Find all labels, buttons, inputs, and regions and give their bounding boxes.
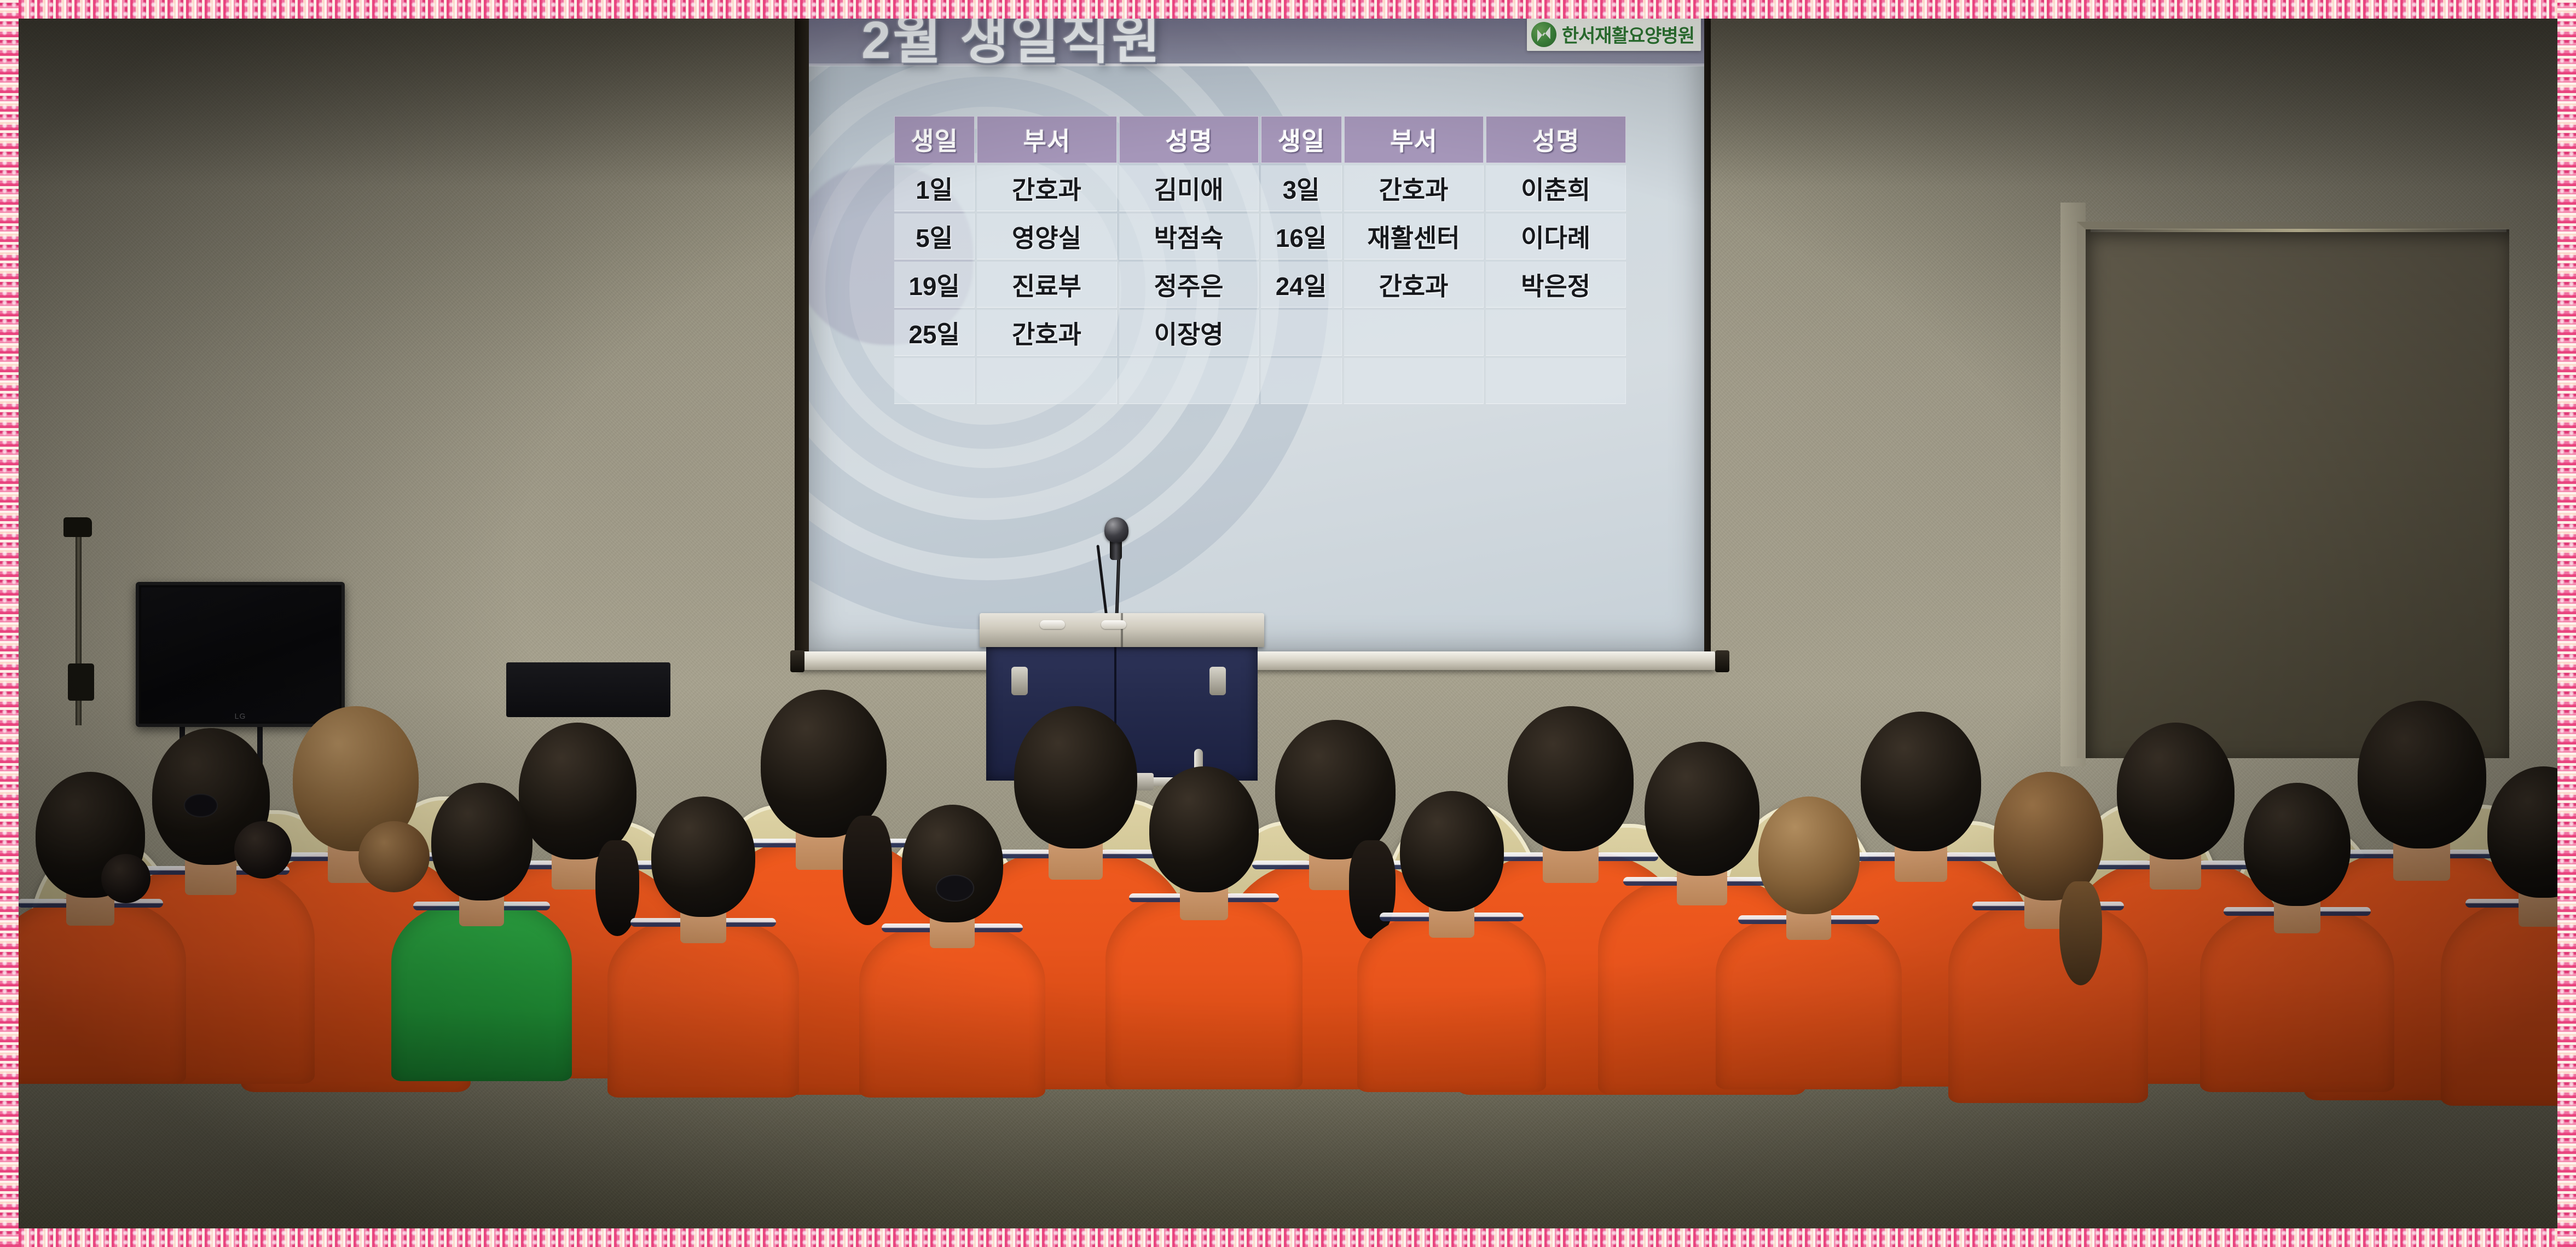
staff-uniform bbox=[391, 900, 572, 1081]
photo-frame: LG 2월 생일직원 한서재활요양병원 bbox=[0, 0, 2576, 1247]
head bbox=[1400, 791, 1504, 911]
doorway-light-gleam bbox=[2091, 229, 2506, 232]
staff-uniform bbox=[607, 917, 799, 1098]
col-header-birthday-2: 생일 bbox=[1261, 116, 1341, 163]
audience-member bbox=[1105, 766, 1303, 1089]
cell-birthday: 16일 bbox=[1261, 213, 1341, 259]
head bbox=[902, 805, 1003, 922]
audience-seating bbox=[11, 657, 2565, 1236]
col-header-dept-2: 부서 bbox=[1344, 116, 1484, 163]
cell-name: 이장영 bbox=[1119, 310, 1259, 356]
audience-member bbox=[1716, 796, 1902, 1089]
head bbox=[651, 796, 755, 917]
cell-birthday: 5일 bbox=[894, 213, 975, 259]
cell-birthday: 19일 bbox=[894, 262, 975, 308]
staff-uniform bbox=[2200, 906, 2394, 1092]
cell-empty bbox=[1261, 358, 1341, 404]
col-header-name-2: 성명 bbox=[1486, 116, 1626, 163]
projection-screen-assembly: 2월 생일직원 한서재활요양병원 생일 부서 성명 bbox=[795, 11, 1725, 700]
head bbox=[1758, 796, 1860, 914]
microphone-icon bbox=[1104, 517, 1128, 542]
cell-dept: 진료부 bbox=[977, 262, 1117, 308]
cell-dept: 간호과 bbox=[1344, 262, 1484, 308]
cell-empty bbox=[1344, 310, 1484, 356]
cell-empty bbox=[1261, 310, 1341, 356]
audience-member bbox=[607, 796, 799, 1098]
cell-birthday: 25일 bbox=[894, 310, 975, 356]
ponytail bbox=[2059, 881, 2102, 985]
staff-uniform bbox=[859, 922, 1045, 1098]
col-header-name-1: 성명 bbox=[1119, 116, 1259, 163]
cell-birthday: 3일 bbox=[1261, 165, 1341, 211]
birthday-staff-table: 생일 부서 성명 생일 부서 성명 1일 간호과 김미애 bbox=[892, 114, 1628, 406]
audience-member bbox=[1357, 791, 1546, 1092]
cell-empty bbox=[894, 358, 975, 404]
hair-clip bbox=[184, 794, 218, 817]
hair-bun bbox=[234, 821, 292, 879]
cell-name: 박점숙 bbox=[1119, 213, 1259, 259]
cell-empty bbox=[1344, 358, 1484, 404]
table-row bbox=[894, 358, 1626, 404]
table-header-row: 생일 부서 성명 생일 부서 성명 bbox=[894, 116, 1626, 163]
head bbox=[431, 783, 532, 900]
table-row: 25일 간호과 이장영 bbox=[894, 310, 1626, 356]
podium-knob-left bbox=[1040, 620, 1065, 629]
slide-title: 2월 생일직원 bbox=[861, 11, 1162, 73]
podium-knob-right bbox=[1101, 620, 1126, 629]
hospital-logo-plate: 한서재활요양병원 bbox=[1527, 18, 1701, 51]
audience-member bbox=[2200, 783, 2394, 1092]
cell-dept: 간호과 bbox=[1344, 165, 1484, 211]
hair-bun bbox=[101, 854, 150, 903]
col-header-dept-1: 부서 bbox=[977, 116, 1117, 163]
cell-dept: 재활센터 bbox=[1344, 213, 1484, 259]
screen-edge-left bbox=[795, 11, 809, 665]
cell-dept: 영양실 bbox=[977, 213, 1117, 259]
cell-empty bbox=[977, 358, 1117, 404]
cell-name: 이다례 bbox=[1486, 213, 1626, 259]
meeting-room-photo: LG 2월 생일직원 한서재활요양병원 bbox=[11, 11, 2565, 1236]
cell-empty bbox=[1486, 310, 1626, 356]
staff-uniform bbox=[11, 898, 186, 1084]
cell-name: 정주은 bbox=[1119, 262, 1259, 308]
staff-uniform bbox=[1716, 914, 1902, 1089]
staff-uniform bbox=[1357, 911, 1546, 1092]
staff-uniform bbox=[2441, 898, 2565, 1106]
cell-birthday: 1일 bbox=[894, 165, 975, 211]
audience-member bbox=[11, 772, 186, 1084]
table-row: 19일 진료부 정주은 24일 간호과 박은정 bbox=[894, 262, 1626, 308]
head bbox=[2487, 766, 2565, 898]
cell-name: 김미애 bbox=[1119, 165, 1259, 211]
col-header-birthday-1: 생일 bbox=[894, 116, 975, 163]
head bbox=[1149, 766, 1259, 892]
table-row: 5일 영양실 박점숙 16일 재활센터 이다례 bbox=[894, 213, 1626, 259]
hospital-logo-icon bbox=[1531, 22, 1556, 47]
speaker-pole-head bbox=[63, 517, 92, 537]
cell-empty bbox=[1486, 358, 1626, 404]
cell-birthday: 24일 bbox=[1261, 262, 1341, 308]
cell-dept: 간호과 bbox=[977, 165, 1117, 211]
table-row: 1일 간호과 김미애 3일 간호과 이춘희 bbox=[894, 165, 1626, 211]
head bbox=[2244, 783, 2351, 906]
projected-slide: 2월 생일직원 한서재활요양병원 생일 부서 성명 bbox=[809, 11, 1704, 651]
cell-empty bbox=[1119, 358, 1259, 404]
audience-member bbox=[2441, 766, 2565, 1106]
podium-top-seam bbox=[1121, 613, 1123, 647]
cell-name: 이춘희 bbox=[1486, 165, 1626, 211]
staff-uniform bbox=[1948, 900, 2148, 1103]
audience-member bbox=[859, 805, 1045, 1098]
hospital-logo-text: 한서재활요양병원 bbox=[1562, 21, 1694, 48]
hair-clip bbox=[936, 875, 974, 902]
cell-dept: 간호과 bbox=[977, 310, 1117, 356]
audience-member bbox=[1948, 772, 2148, 1103]
staff-uniform bbox=[1105, 892, 1303, 1089]
cell-name: 박은정 bbox=[1486, 262, 1626, 308]
audience-member bbox=[391, 783, 572, 1081]
